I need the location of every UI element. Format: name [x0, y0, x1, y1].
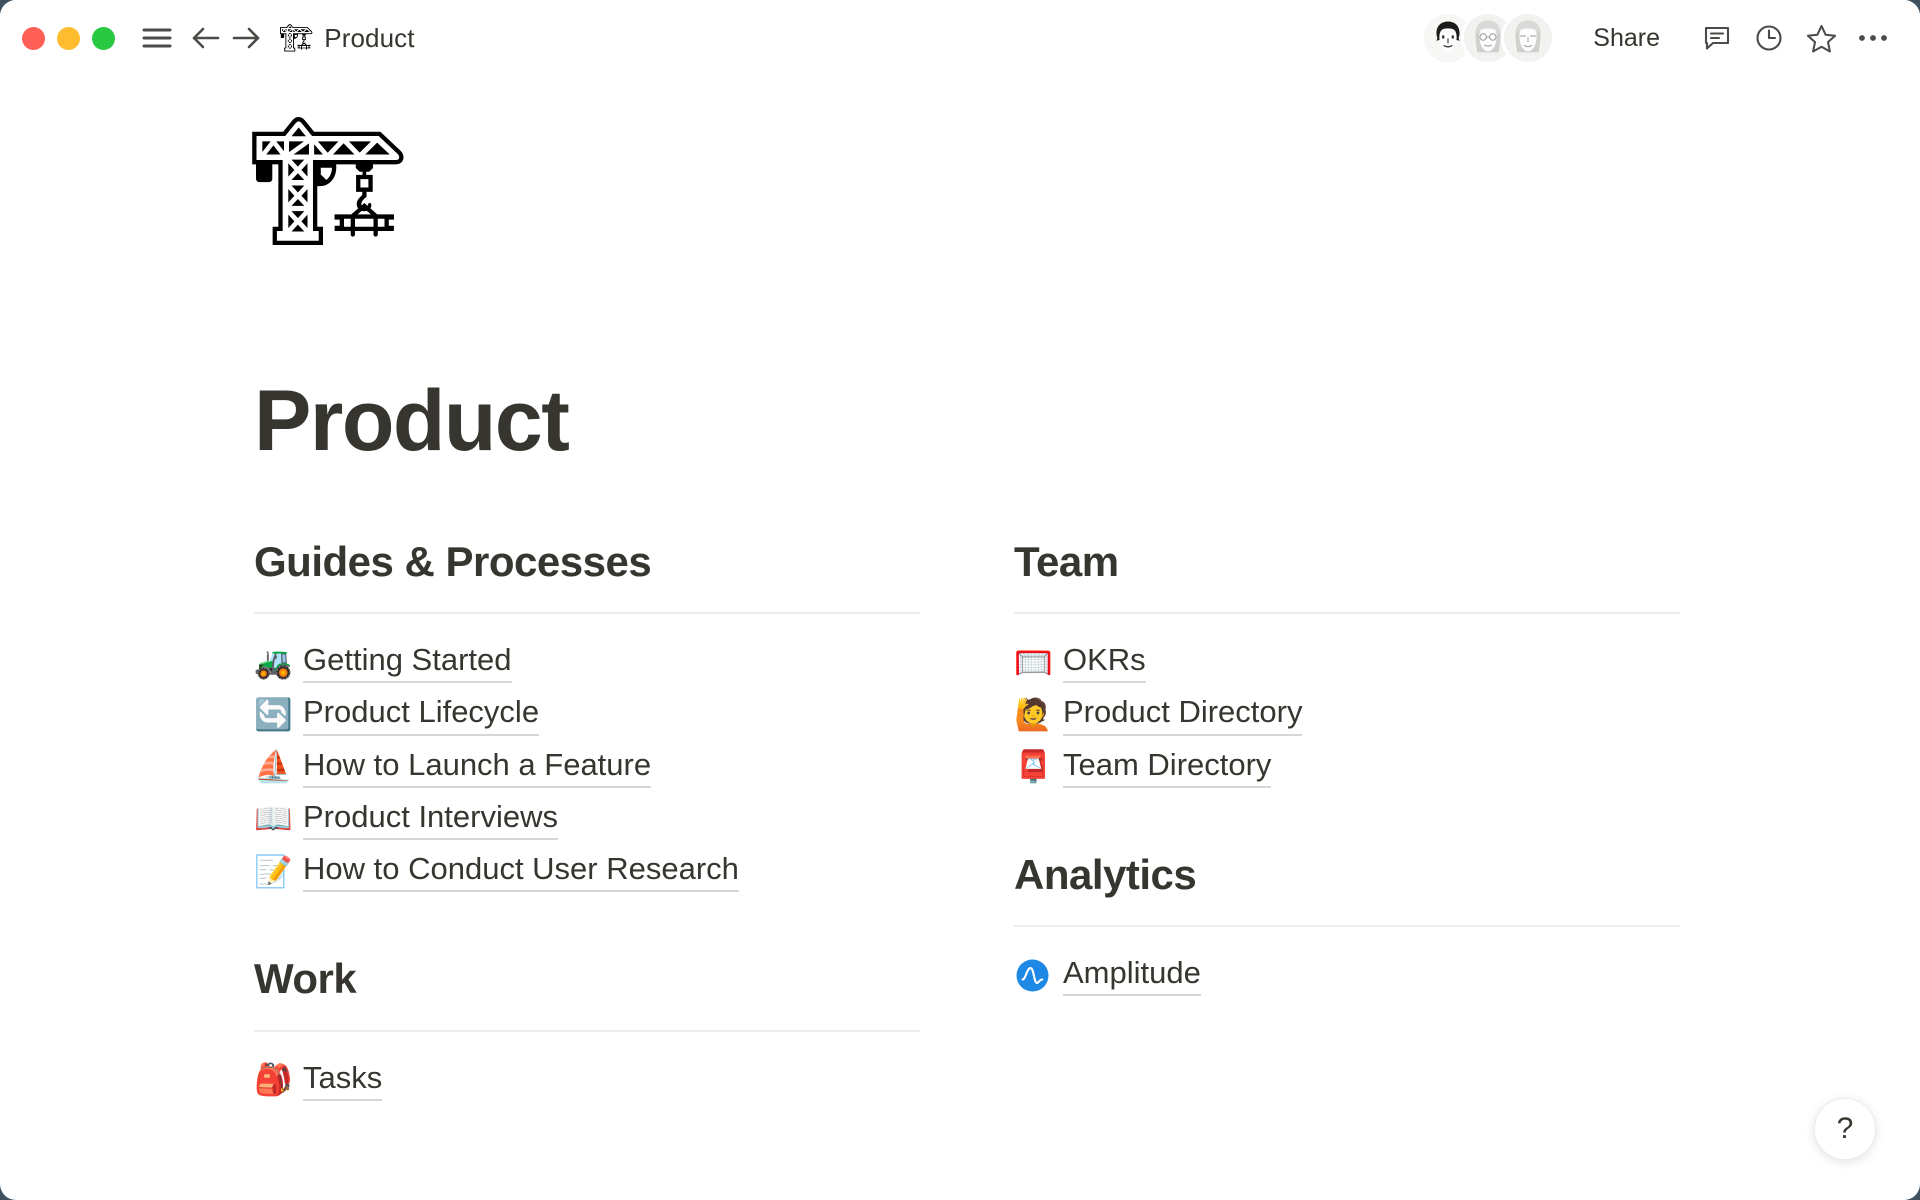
zoom-window-button[interactable]: [92, 27, 115, 50]
section-team: Team 🥅 OKRs 🙋 Product Directory 📮 Team D…: [1014, 538, 1680, 793]
page-title[interactable]: Product: [254, 378, 568, 464]
backpack-icon: 🎒: [254, 1064, 291, 1095]
sailboat-icon: ⛵: [254, 751, 291, 782]
arrow-left-icon[interactable]: [185, 18, 225, 58]
help-button[interactable]: ?: [1814, 1098, 1876, 1160]
column-left: Guides & Processes 🚜 Getting Started 🔄 P…: [254, 538, 920, 1106]
avatar[interactable]: [1501, 11, 1555, 65]
titlebar-actions: Share: [1421, 11, 1896, 65]
list-item[interactable]: 📮 Team Directory: [1014, 741, 1680, 793]
window-controls: [22, 27, 115, 50]
section-work: Work 🎒 Tasks: [254, 955, 920, 1105]
list-item-label: Product Interviews: [303, 798, 558, 840]
list-item-label: Product Directory: [1063, 693, 1302, 735]
list-item[interactable]: 🎒 Tasks: [254, 1054, 920, 1106]
list-item[interactable]: 📝 How to Conduct User Research: [254, 845, 920, 897]
section-heading: Analytics: [1014, 851, 1680, 899]
list-item-label: OKRs: [1063, 641, 1146, 683]
amplitude-logo-icon: [1014, 959, 1051, 992]
postbox-icon: 📮: [1014, 751, 1051, 782]
hamburger-icon[interactable]: [137, 18, 177, 58]
page-cover-crane-icon[interactable]: 🏗: [248, 118, 408, 244]
column-list: Guides & Processes 🚜 Getting Started 🔄 P…: [254, 538, 1680, 1106]
crane-icon: 🏗: [279, 25, 313, 52]
open-book-icon: 📖: [254, 803, 291, 834]
list-item-label: Tasks: [303, 1059, 382, 1101]
breadcrumb[interactable]: 🏗 Product: [279, 23, 415, 54]
list-item-label: How to Conduct User Research: [303, 850, 739, 892]
section-heading: Work: [254, 955, 920, 1003]
page-content: 🏗 Product Guides & Processes 🚜 Getting S…: [0, 76, 1920, 1200]
memo-icon: 📝: [254, 856, 291, 887]
arrow-right-icon[interactable]: [227, 18, 267, 58]
section-analytics: Analytics Amplitude: [1014, 851, 1680, 1001]
divider: [254, 612, 920, 614]
column-right: Team 🥅 OKRs 🙋 Product Directory 📮 Team D…: [1014, 538, 1680, 1106]
more-options-icon[interactable]: [1850, 15, 1896, 61]
list-item[interactable]: Amplitude: [1014, 949, 1680, 1001]
list-item-label: Product Lifecycle: [303, 693, 539, 735]
app-window: 🏗 Product: [0, 0, 1920, 1200]
history-clock-icon[interactable]: [1746, 15, 1792, 61]
person-raising-hand-icon: 🙋: [1014, 699, 1051, 730]
comment-icon[interactable]: [1694, 15, 1740, 61]
list-item[interactable]: 🔄 Product Lifecycle: [254, 688, 920, 740]
divider: [254, 1030, 920, 1032]
divider: [1014, 925, 1680, 927]
share-button[interactable]: Share: [1579, 18, 1674, 59]
close-window-button[interactable]: [22, 27, 45, 50]
section-heading: Guides & Processes: [254, 538, 920, 586]
collaborator-avatars[interactable]: [1421, 11, 1555, 65]
list-item[interactable]: 🙋 Product Directory: [1014, 688, 1680, 740]
section-heading: Team: [1014, 538, 1680, 586]
refresh-cycle-icon: 🔄: [254, 699, 291, 730]
favorite-star-icon[interactable]: [1798, 15, 1844, 61]
list-item[interactable]: ⛵ How to Launch a Feature: [254, 741, 920, 793]
list-item-label: Team Directory: [1063, 746, 1271, 788]
list-item[interactable]: 🥅 OKRs: [1014, 636, 1680, 688]
tractor-icon: 🚜: [254, 647, 291, 678]
section-guides-processes: Guides & Processes 🚜 Getting Started 🔄 P…: [254, 538, 920, 897]
minimize-window-button[interactable]: [57, 27, 80, 50]
list-item[interactable]: 📖 Product Interviews: [254, 793, 920, 845]
breadcrumb-label: Product: [324, 23, 414, 54]
list-item-label: How to Launch a Feature: [303, 746, 651, 788]
list-item-label: Amplitude: [1063, 954, 1201, 996]
titlebar: 🏗 Product: [0, 0, 1920, 76]
goal-net-icon: 🥅: [1014, 647, 1051, 678]
list-item-label: Getting Started: [303, 641, 512, 683]
divider: [1014, 612, 1680, 614]
list-item[interactable]: 🚜 Getting Started: [254, 636, 920, 688]
